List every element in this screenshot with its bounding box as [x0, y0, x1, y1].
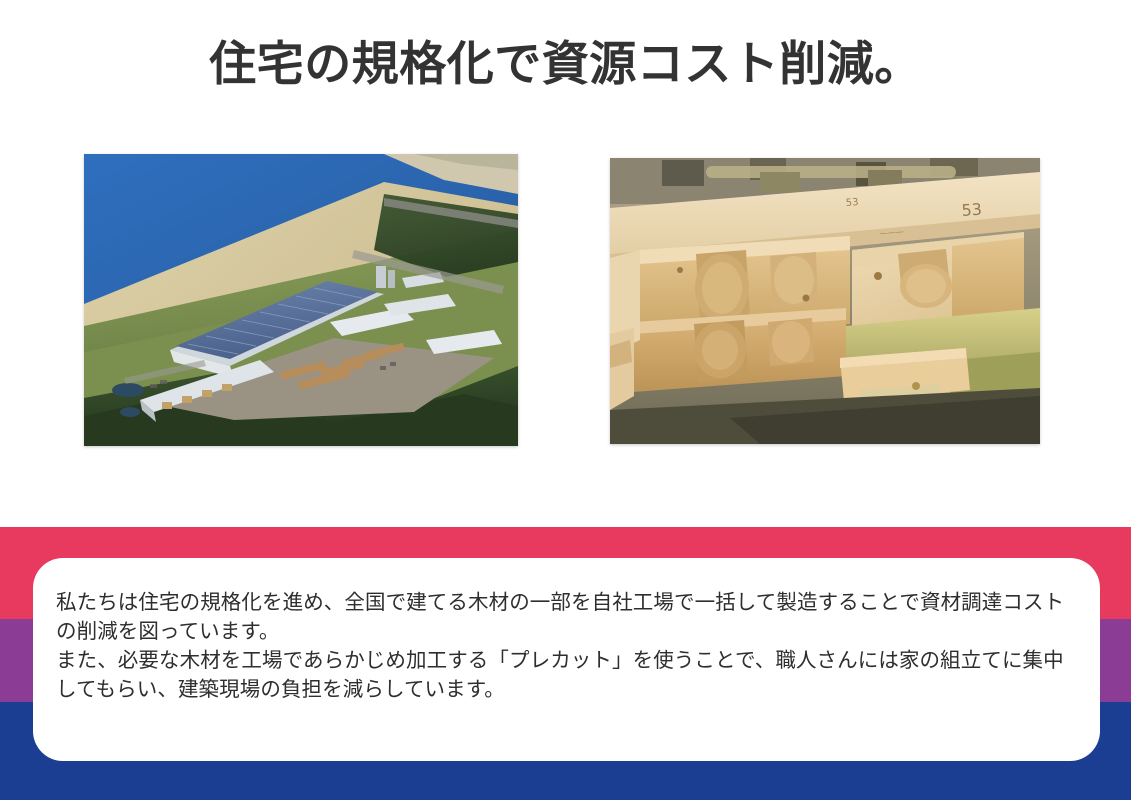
slide-root: 住宅の規格化で資源コスト削減。: [0, 0, 1131, 800]
page-title: 住宅の規格化で資源コスト削減。: [209, 39, 922, 91]
title-container: 住宅の規格化で資源コスト削減。: [0, 0, 1131, 130]
aerial-factory-photo: [84, 154, 518, 446]
photo-row: 53 53 ———: [0, 154, 1131, 454]
precut-lumber-photo: 53 53 ———: [610, 158, 1040, 444]
svg-text:53: 53: [845, 197, 858, 209]
precut-lumber-illustration: 53 53 ———: [610, 158, 1040, 444]
aerial-factory-illustration: [84, 154, 518, 446]
description-text: 私たちは住宅の規格化を進め、全国で建てる木材の一部を自社工場で一括して製造するこ…: [56, 588, 1066, 704]
svg-text:53: 53: [961, 200, 983, 220]
description-card: 私たちは住宅の規格化を進め、全国で建てる木材の一部を自社工場で一括して製造するこ…: [33, 558, 1100, 761]
